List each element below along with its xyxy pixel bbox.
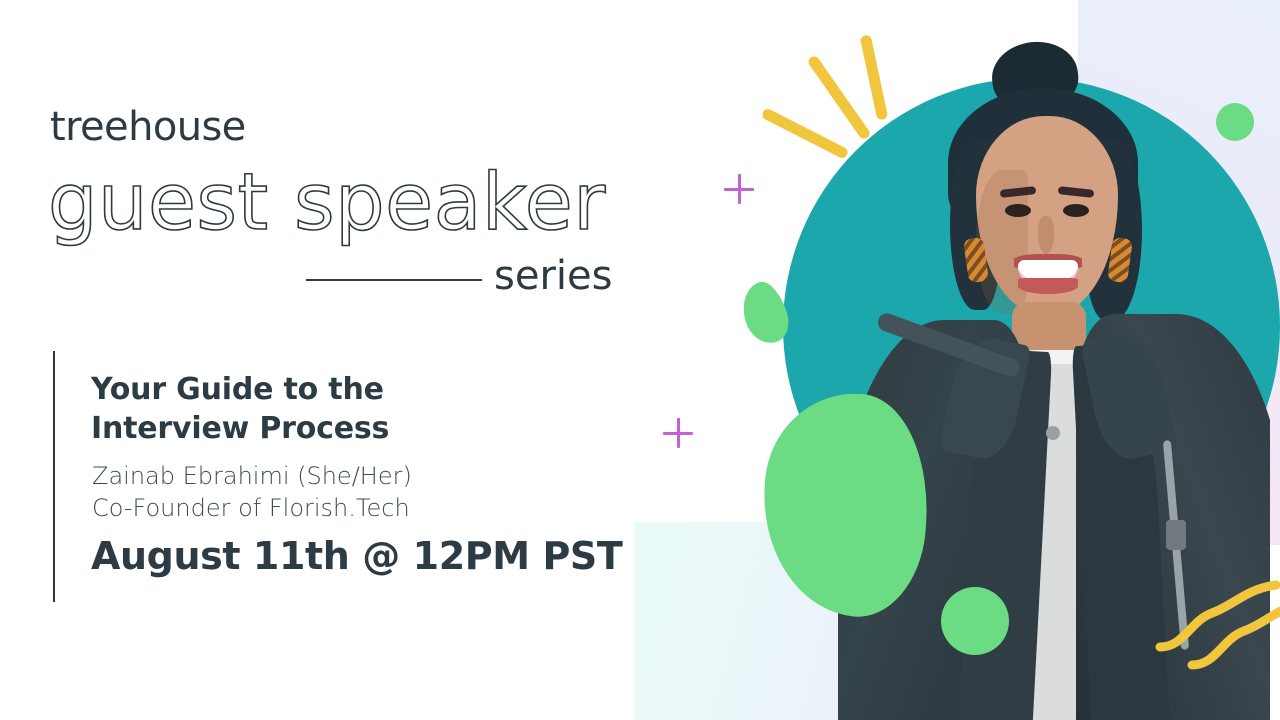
green-circle-bottom-shape — [941, 587, 1009, 655]
text-column: treehouse guest speaker series Your Guid… — [0, 0, 660, 720]
portrait-lip-lower — [1018, 278, 1078, 294]
portrait-zipper-pull — [1166, 520, 1186, 550]
brand-wordmark: treehouse — [50, 107, 246, 147]
portrait-nose — [1038, 216, 1054, 254]
series-divider-rule — [306, 279, 482, 281]
detail-accent-rule — [53, 351, 55, 602]
headline-outline-text: guest speaker — [48, 163, 606, 245]
promo-slide: treehouse guest speaker series Your Guid… — [0, 0, 1280, 720]
event-datetime: August 11th @ 12PM PST — [91, 536, 622, 578]
series-label: series — [494, 256, 612, 296]
portrait-eye-left — [1005, 204, 1031, 217]
portrait-jacket-stud — [1046, 426, 1060, 440]
green-circle-top-shape — [1216, 103, 1254, 141]
magenta-plus-icon-middle — [663, 418, 693, 448]
portrait-eye-right — [1063, 204, 1089, 217]
speaker-name: Zainab Ebrahimi (She/Her) — [92, 461, 412, 493]
yellow-wavy-lines — [1150, 555, 1280, 685]
speaker-role: Co-Founder of Florish.Tech — [92, 493, 410, 525]
talk-title: Your Guide to the Interview Process — [91, 370, 511, 448]
magenta-plus-icon-top — [724, 174, 754, 204]
